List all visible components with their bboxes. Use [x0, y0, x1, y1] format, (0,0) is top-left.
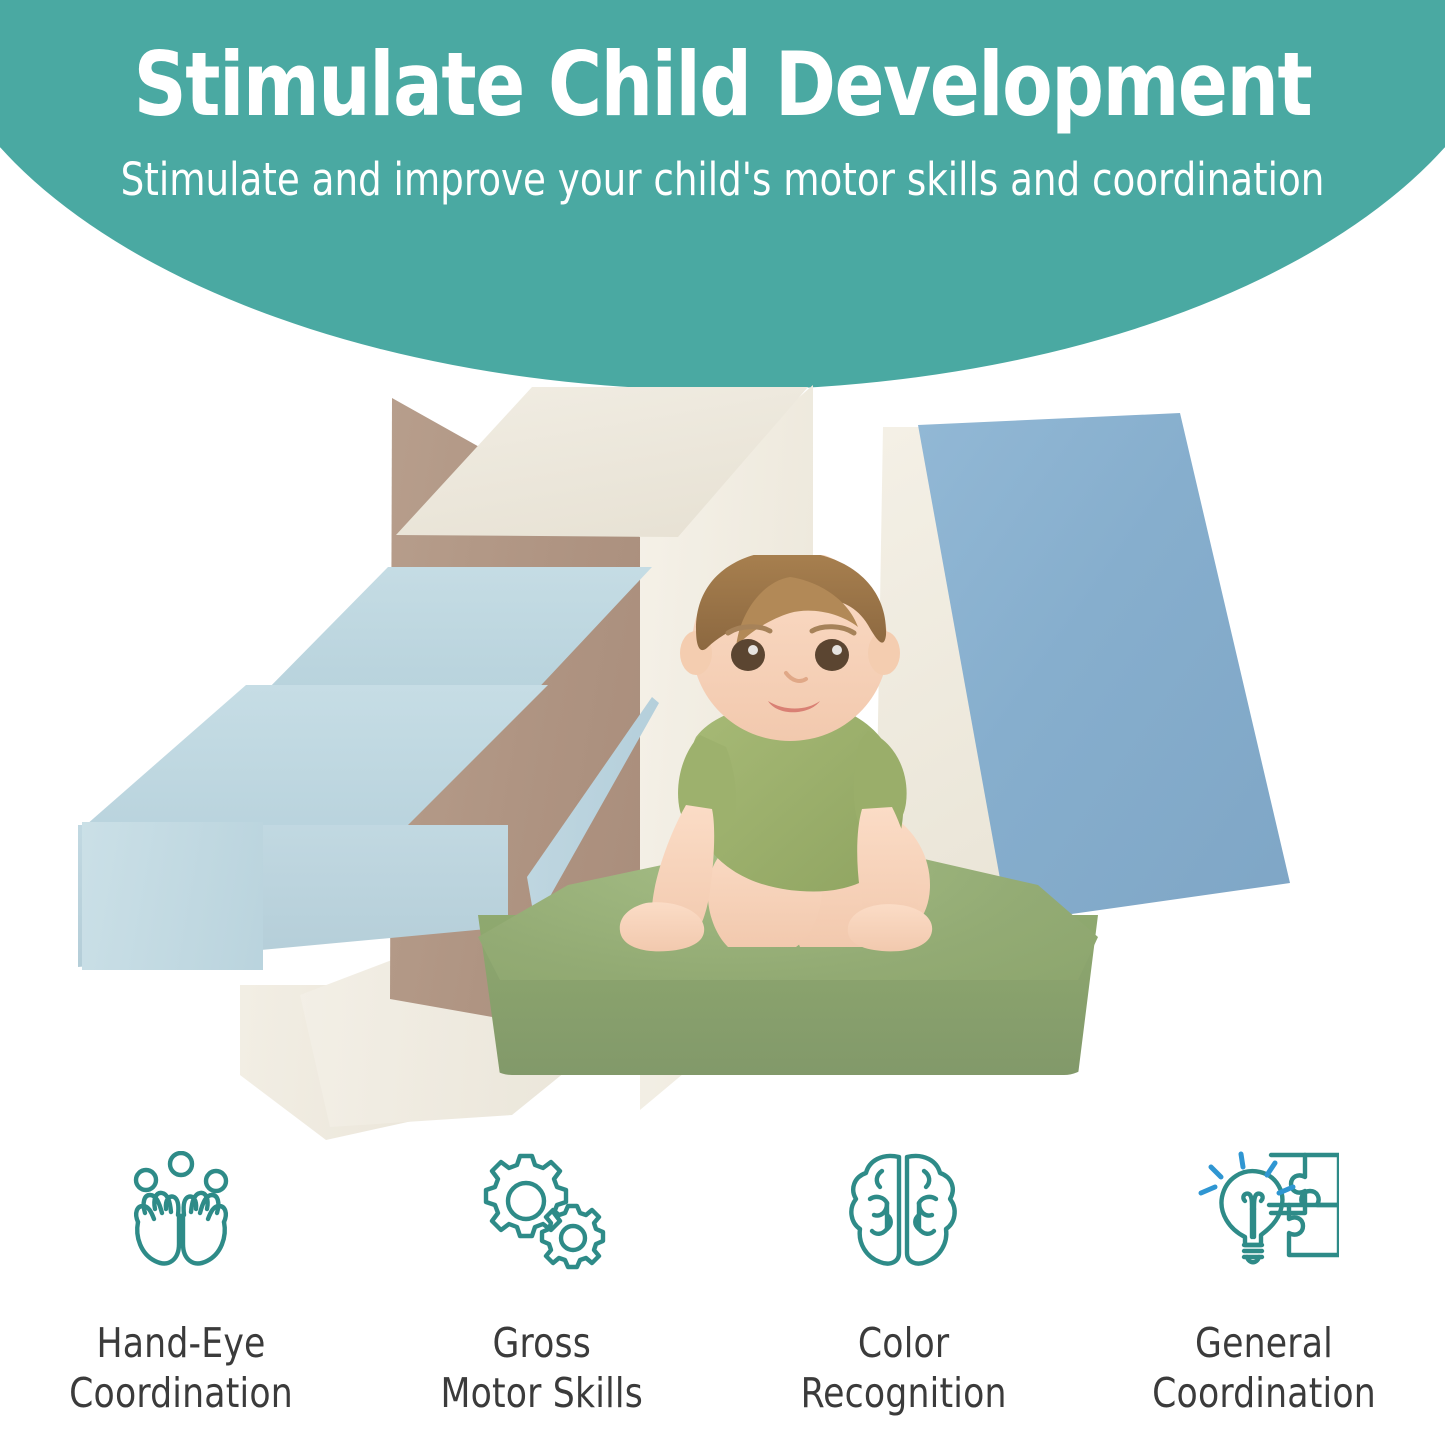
feature-label: General Coordination	[1153, 1318, 1377, 1418]
brain-icon	[842, 1150, 964, 1270]
feature-label-line2: Coordination	[1153, 1368, 1377, 1418]
feature-label-line1: Gross	[441, 1318, 644, 1368]
feature-general-coordination: General Coordination	[1084, 1150, 1445, 1445]
feature-label: Gross Motor Skills	[441, 1318, 644, 1418]
product-photo	[0, 355, 1445, 1115]
feature-label-line1: Hand-Eye	[69, 1318, 293, 1368]
feature-row: Hand-Eye Coordination Gross Motor Skills	[0, 1150, 1445, 1445]
feature-label: Hand-Eye Coordination	[69, 1318, 293, 1418]
header-curved-banner-background	[0, 0, 1445, 390]
feature-label-line1: Color	[800, 1318, 1006, 1368]
feature-label-line2: Recognition	[800, 1368, 1006, 1418]
feature-label-line2: Coordination	[69, 1368, 293, 1418]
juggling-hands-icon	[115, 1150, 247, 1270]
feature-label: Color Recognition	[800, 1318, 1006, 1418]
feature-hand-eye-coordination: Hand-Eye Coordination	[0, 1150, 361, 1445]
promo-banner-page: Stimulate Child Development Stimulate an…	[0, 0, 1445, 1445]
feature-color-recognition: Color Recognition	[723, 1150, 1084, 1445]
lightbulb-puzzle-icon	[1189, 1150, 1339, 1270]
feature-gross-motor-skills: Gross Motor Skills	[361, 1150, 722, 1445]
step-block-left-face	[78, 810, 263, 1025]
child-photo	[600, 555, 1020, 1025]
feature-label-line1: General	[1153, 1318, 1377, 1368]
feature-label-line2: Motor Skills	[441, 1368, 644, 1418]
gears-icon	[472, 1150, 612, 1270]
